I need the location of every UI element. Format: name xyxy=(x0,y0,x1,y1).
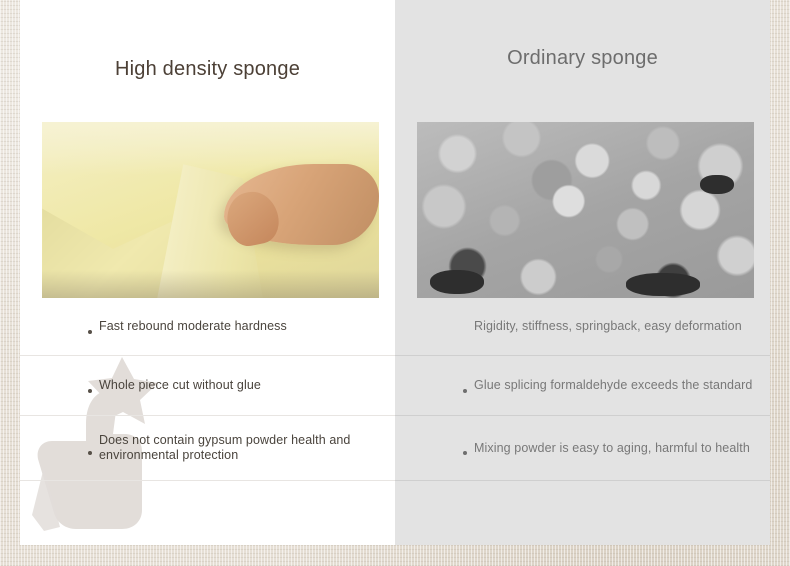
feature-text: Mixing powder is easy to aging, harmful … xyxy=(474,441,750,456)
list-item: Whole piece cut without glue xyxy=(20,355,395,415)
feature-list-high-density: Fast rebound moderate hardness Whole pie… xyxy=(20,298,395,545)
feature-text: Whole piece cut without glue xyxy=(99,378,261,393)
list-item: Mixing powder is easy to aging, harmful … xyxy=(395,415,770,480)
list-item-empty xyxy=(20,480,395,545)
yellow-high-density-foam-photo xyxy=(42,122,379,298)
crumb-void-1 xyxy=(430,270,484,295)
list-item: Rigidity, stiffness, springback, easy de… xyxy=(395,298,770,355)
page-title-ordinary: Ordinary sponge xyxy=(395,47,770,70)
feature-text: Rigidity, stiffness, springback, easy de… xyxy=(474,319,742,334)
feature-list-ordinary: Rigidity, stiffness, springback, easy de… xyxy=(395,298,770,545)
crumb-void-2 xyxy=(626,273,700,296)
panel-high-density-sponge: High density sponge Fast rebound moderat… xyxy=(20,0,395,545)
sponge-comparison-card: High density sponge Fast rebound moderat… xyxy=(20,0,770,545)
page-title-high-density: High density sponge xyxy=(20,58,395,81)
grey-crumb-foam-photo xyxy=(417,122,754,298)
bullet-icon xyxy=(463,389,467,393)
panel-ordinary-sponge: Ordinary sponge Rigidity, stiffness, spr… xyxy=(395,0,770,545)
list-item: Does not contain gypsum powder health an… xyxy=(20,415,395,480)
list-item: Glue splicing formaldehyde exceeds the s… xyxy=(395,355,770,415)
feature-text: Fast rebound moderate hardness xyxy=(99,319,287,334)
list-item: Fast rebound moderate hardness xyxy=(20,298,395,355)
foam-base-shadow xyxy=(42,270,379,298)
list-item-empty xyxy=(395,480,770,545)
crumb-void-3 xyxy=(700,175,734,194)
bullet-icon xyxy=(88,330,92,334)
bullet-icon xyxy=(88,389,92,393)
bullet-icon xyxy=(463,451,467,455)
feature-text: Glue splicing formaldehyde exceeds the s… xyxy=(474,378,752,393)
bullet-icon xyxy=(88,451,92,455)
feature-text: Does not contain gypsum powder health an… xyxy=(99,433,395,463)
